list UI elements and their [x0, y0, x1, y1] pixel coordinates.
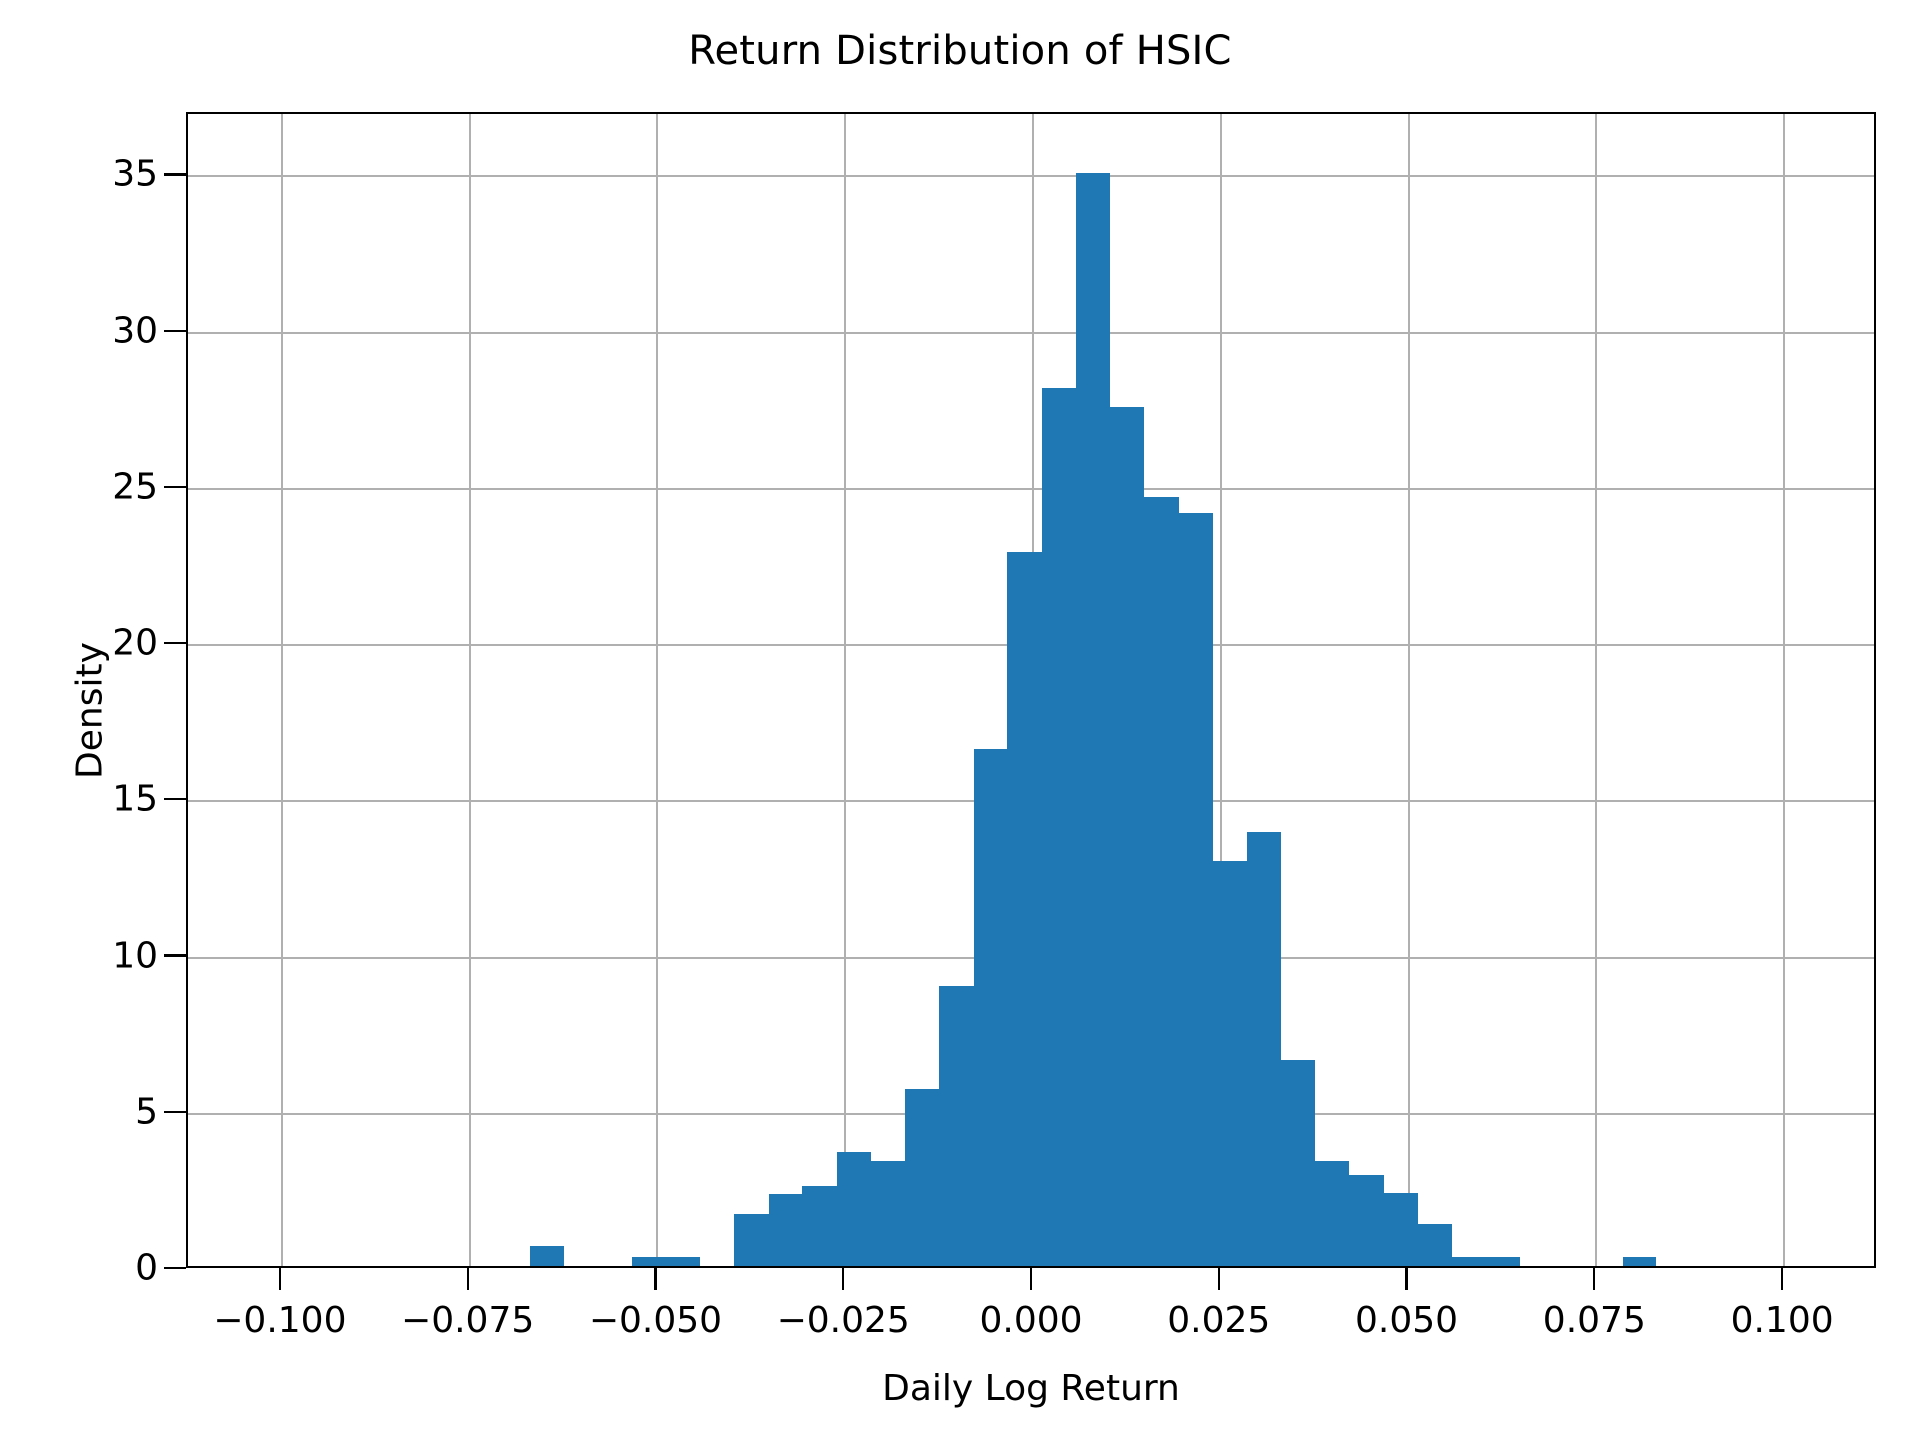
histogram-bar: [837, 1152, 871, 1266]
histogram-bar: [530, 1246, 564, 1266]
figure-canvas: Return Distribution of HSIC 051015202530…: [0, 0, 1920, 1440]
histogram-bar: [905, 1089, 939, 1266]
histogram-bar: [1144, 497, 1179, 1266]
histogram-bar: [1384, 1193, 1418, 1266]
y-axis-tick: [164, 954, 186, 956]
plot-area: [186, 112, 1876, 1268]
histogram-bars: [188, 114, 1874, 1266]
y-axis-tick-label: 20: [112, 623, 158, 664]
x-axis-tick-label: 0.075: [1543, 1300, 1646, 1341]
histogram-bar: [1418, 1224, 1453, 1266]
histogram-bar: [1623, 1257, 1657, 1266]
page-title: Return Distribution of HSIC: [0, 28, 1920, 74]
x-axis-tick: [654, 1268, 656, 1290]
x-axis-tick: [279, 1268, 281, 1290]
y-axis-tick: [164, 330, 186, 332]
histogram-bar: [769, 1194, 803, 1266]
histogram-bar: [1093, 173, 1110, 1267]
x-axis-tick: [842, 1268, 844, 1290]
y-axis-label: Density: [70, 561, 111, 861]
histogram-bar: [1007, 552, 1042, 1266]
x-axis-tick-label: 0.100: [1731, 1300, 1834, 1341]
histogram-bar: [1179, 513, 1213, 1266]
x-axis-label: Daily Log Return: [186, 1368, 1876, 1409]
x-axis-tick: [1030, 1268, 1032, 1290]
y-axis-tick-label: 5: [135, 1091, 158, 1132]
y-axis-tick: [164, 642, 186, 644]
histogram-bar: [1452, 1257, 1486, 1266]
x-axis-tick-label: −0.050: [589, 1300, 722, 1341]
y-axis-tick-label: 35: [112, 154, 158, 195]
x-axis-tick: [1781, 1268, 1783, 1290]
x-axis-tick-label: 0.000: [979, 1300, 1082, 1341]
histogram-bar: [871, 1161, 906, 1266]
x-axis-tick-label: −0.100: [213, 1300, 346, 1341]
y-axis-tick: [164, 173, 186, 175]
y-axis-tick-label: 15: [112, 779, 158, 820]
histogram-bar: [1315, 1161, 1349, 1266]
x-axis-tick: [1593, 1268, 1595, 1290]
y-axis-tick-label: 10: [112, 935, 158, 976]
histogram-bar: [802, 1186, 837, 1266]
x-axis-tick: [467, 1268, 469, 1290]
histogram-bar: [1486, 1257, 1521, 1266]
histogram-bar: [1247, 832, 1281, 1266]
histogram-bar: [666, 1257, 701, 1266]
histogram-bar: [734, 1214, 769, 1266]
y-axis-tick-label: 0: [135, 1248, 158, 1289]
y-axis-tick: [164, 486, 186, 488]
histogram-bar: [939, 986, 974, 1266]
histogram-bar: [1213, 861, 1248, 1266]
y-axis-tick-label: 25: [112, 466, 158, 507]
y-axis-tick: [164, 798, 186, 800]
x-axis-tick-label: −0.075: [401, 1300, 534, 1341]
histogram-bar: [1281, 1060, 1316, 1266]
y-axis-tick: [164, 1267, 186, 1269]
x-axis-tick: [1218, 1268, 1220, 1290]
y-axis-tick-label: 30: [112, 310, 158, 351]
histogram-bar: [1110, 407, 1144, 1266]
x-axis-tick-label: 0.025: [1167, 1300, 1270, 1341]
histogram-bar: [632, 1257, 666, 1266]
x-axis-tick: [1405, 1268, 1407, 1290]
histogram-bar: [1042, 388, 1076, 1266]
histogram-bar: [974, 749, 1008, 1266]
y-axis-tick: [164, 1111, 186, 1113]
x-axis-tick-label: 0.050: [1355, 1300, 1458, 1341]
x-axis-tick-label: −0.025: [777, 1300, 910, 1341]
histogram-bar: [1076, 173, 1093, 1267]
histogram-bar: [1349, 1175, 1384, 1266]
